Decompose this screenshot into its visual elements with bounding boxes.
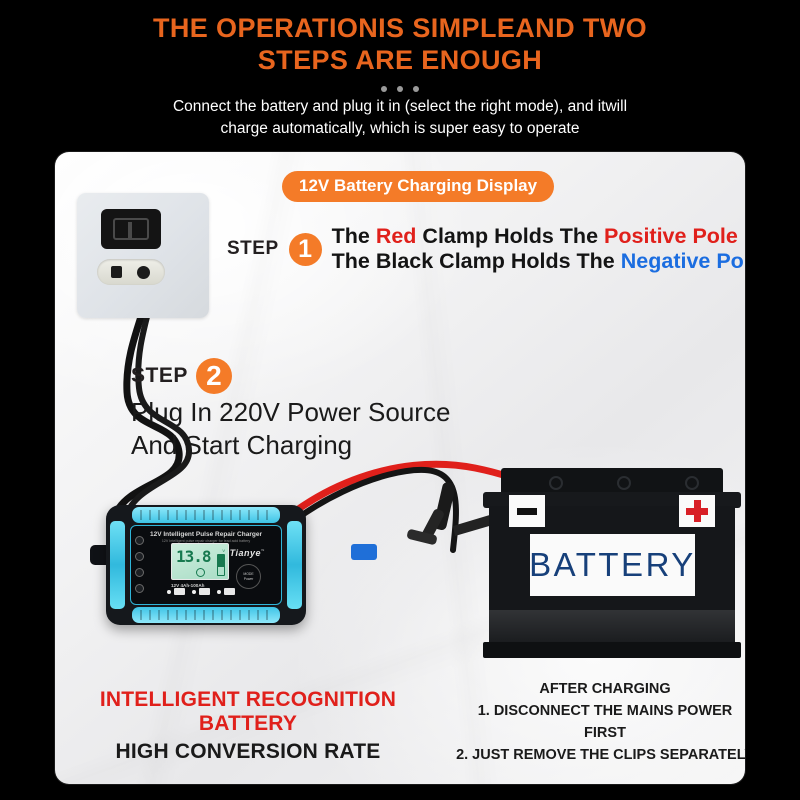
lcd-power-icon <box>196 568 205 577</box>
header-subtitle: Connect the battery and plug it in (sele… <box>0 96 800 140</box>
battery-charger-device: 12V Intelligent Pulse Repair Charger 12V… <box>106 505 306 625</box>
led-indicator <box>167 590 171 594</box>
battery-label: BATTERY <box>530 534 695 596</box>
charger-bottom-vent <box>132 607 280 623</box>
battery-positive-terminal-badge <box>679 495 715 527</box>
socket-hole-right <box>137 266 150 279</box>
led-indicator <box>192 590 196 594</box>
black-clamp <box>351 481 496 560</box>
protection-icon <box>135 568 144 577</box>
feature-line-2: HIGH CONVERSION RATE <box>68 740 428 764</box>
contrast-icon <box>135 552 144 561</box>
lcd-voltage-unit: V <box>222 548 225 553</box>
battery-vent-cap <box>685 476 699 490</box>
step-1-line-2: The Black Clamp Holds The Negative Pole <box>332 249 745 274</box>
step-1-word: STEP <box>227 238 279 260</box>
infographic-root: THE OPERATIONIS SIMPLEAND TWO STEPS ARE … <box>0 0 800 800</box>
charger-brand-logo: Tianye™ <box>230 548 265 558</box>
step-1-number: 1 <box>289 233 322 266</box>
lcd-voltage-value: 13.8 <box>176 547 211 566</box>
step-2-line-1: Plug In 220V Power Source <box>131 396 450 429</box>
display-title-badge: 12V Battery Charging Display <box>282 171 554 202</box>
dots-divider <box>0 80 800 92</box>
subtitle-line-2: charge automatically, which is super eas… <box>70 118 730 140</box>
battery-vent-cap <box>617 476 631 490</box>
truck-mode-icon <box>224 588 235 595</box>
after-charging-heading: AFTER CHARGING <box>455 678 745 700</box>
car-mode-icon <box>174 588 185 595</box>
battery-label-text: BATTERY <box>529 546 696 584</box>
charger-top-vent <box>132 507 280 523</box>
charger-mode-indicators <box>167 588 242 595</box>
step-1-block: STEP 1 The Red Clamp Holds The Positive … <box>227 224 745 274</box>
charger-model-title: 12V Intelligent Pulse Repair Charger 12V… <box>131 531 281 543</box>
title-line-2: STEPS ARE ENOUGH <box>0 44 800 76</box>
led-indicator <box>217 590 221 594</box>
car-battery-graphic: BATTERY <box>483 468 741 658</box>
battery-vent-cap <box>549 476 563 490</box>
battery-negative-terminal-badge <box>509 495 545 527</box>
after-charging-item-2: 2. JUST REMOVE THE CLIPS SEPARATELY <box>455 744 745 766</box>
illustration-panel: 12V Intelligent Pulse Repair Charger 12V… <box>55 152 745 784</box>
step-1-text: The Red Clamp Holds The Positive Pole Th… <box>332 224 745 274</box>
header: THE OPERATIONIS SIMPLEAND TWO STEPS ARE … <box>0 0 800 150</box>
dot-icon <box>381 86 387 92</box>
after-charging-block: AFTER CHARGING 1. DISCONNECT THE MAINS P… <box>455 678 745 766</box>
step-2-block: STEP 2 Plug In 220V Power Source And Sta… <box>131 358 450 462</box>
wall-outlet-icon <box>77 193 209 318</box>
charger-mode-button[interactable]: MODE Power <box>236 564 261 589</box>
title-line-1: THE OPERATIONIS SIMPLEAND TWO <box>0 12 800 44</box>
outlet-upper-socket <box>101 209 161 249</box>
feature-line-1: INTELLIGENT RECOGNITION BATTERY <box>68 688 428 736</box>
charger-bumper-left <box>110 521 125 609</box>
charger-front-panel: 12V Intelligent Pulse Repair Charger 12V… <box>130 525 282 605</box>
battery-mode-icon <box>199 588 210 595</box>
charger-feature-icons <box>135 536 144 600</box>
outlet-lower-socket <box>97 259 165 285</box>
negative-terminal-boot <box>351 544 377 560</box>
socket-hole-left <box>111 266 122 278</box>
mode-button-label-2: Power <box>244 577 254 582</box>
repair-icon <box>135 584 144 593</box>
page-title: THE OPERATIONIS SIMPLEAND TWO STEPS ARE … <box>0 0 800 76</box>
shield-icon <box>135 536 144 545</box>
step-2-number: 2 <box>196 358 232 394</box>
subtitle-line-1: Connect the battery and plug it in (sele… <box>70 96 730 118</box>
dot-icon <box>397 86 403 92</box>
step-1-line-1: The Red Clamp Holds The Positive Pole <box>332 224 745 249</box>
battery-base <box>483 642 741 658</box>
step-2-line-2: And Start Charging <box>131 429 450 462</box>
dot-icon <box>413 86 419 92</box>
feature-callout-left: INTELLIGENT RECOGNITION BATTERY HIGH CON… <box>68 688 428 764</box>
charger-lcd-display: 13.8 V <box>171 543 229 580</box>
charger-bumper-right <box>287 521 302 609</box>
after-charging-item-1: 1. DISCONNECT THE MAINS POWER FIRST <box>455 700 745 744</box>
step-2-word: STEP <box>131 364 188 388</box>
step-2-heading: STEP 2 <box>131 358 450 394</box>
lcd-battery-icon <box>217 554 225 576</box>
step-2-text: Plug In 220V Power Source And Start Char… <box>131 396 450 462</box>
